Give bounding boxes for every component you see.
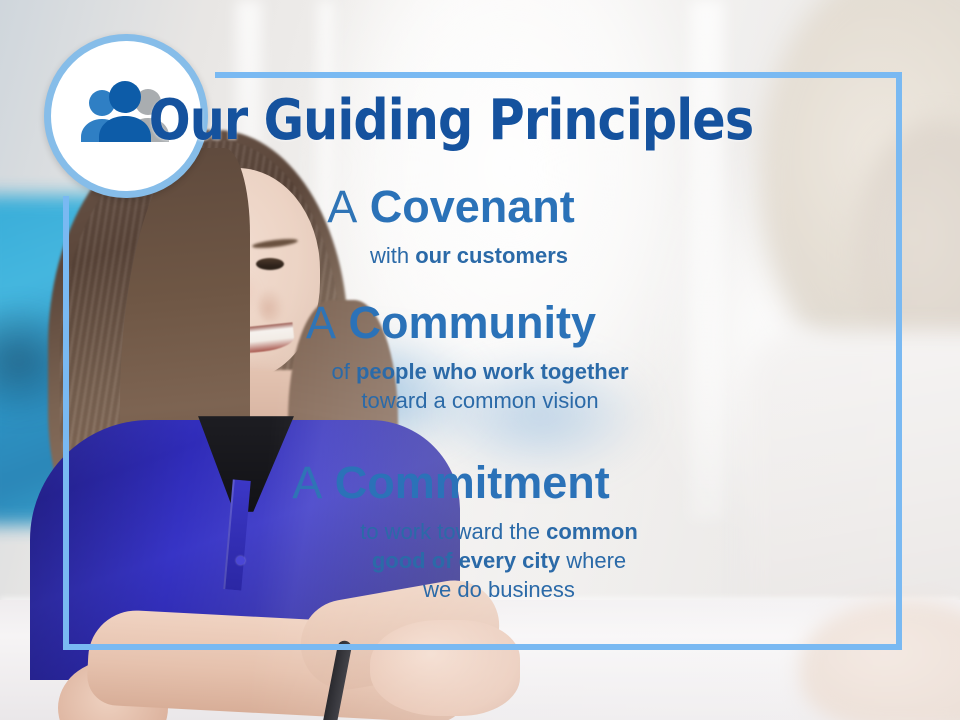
principle-keyword: Commitment: [335, 457, 610, 508]
principle-headline: A Commitment: [0, 458, 902, 508]
subtext-line: we do business: [96, 575, 902, 604]
principle-article: A: [306, 297, 336, 348]
principle-keyword: Community: [349, 297, 597, 348]
subtext-line: good of every city where: [96, 546, 902, 575]
principle-subtext: of people who work together toward a com…: [0, 357, 902, 415]
subtext-bold: our customers: [415, 243, 568, 268]
subtext-line: of people who work together: [58, 357, 902, 386]
guiding-principles-graphic: FLOW FLOW Our Gu: [0, 0, 960, 720]
principle-headline: A Covenant: [0, 182, 902, 232]
principle-covenant: A Covenant with our customers: [0, 182, 902, 270]
principle-headline: A Community: [0, 298, 902, 348]
subtext-regular: with: [370, 243, 415, 268]
subtext-bold: common: [546, 519, 638, 544]
subtext-bold: people who work together: [356, 359, 629, 384]
principle-community: A Community of people who work together …: [0, 298, 902, 415]
principle-article: A: [327, 181, 357, 232]
principle-subtext: with our customers: [0, 241, 902, 270]
subtext-regular: to work toward the: [360, 519, 546, 544]
subtext-regular: where: [560, 548, 626, 573]
subtext-regular: of: [331, 359, 355, 384]
principle-article: A: [292, 457, 322, 508]
subtext-line: toward a common vision: [58, 386, 902, 415]
principle-commitment: A Commitment to work toward the common g…: [0, 458, 902, 604]
subtext-line: to work toward the common: [96, 517, 902, 546]
principle-keyword: Covenant: [370, 181, 575, 232]
page-title: Our Guiding Principles: [54, 92, 848, 151]
subtext-bold: good of every city: [372, 548, 560, 573]
principle-subtext: to work toward the common good of every …: [0, 517, 902, 604]
